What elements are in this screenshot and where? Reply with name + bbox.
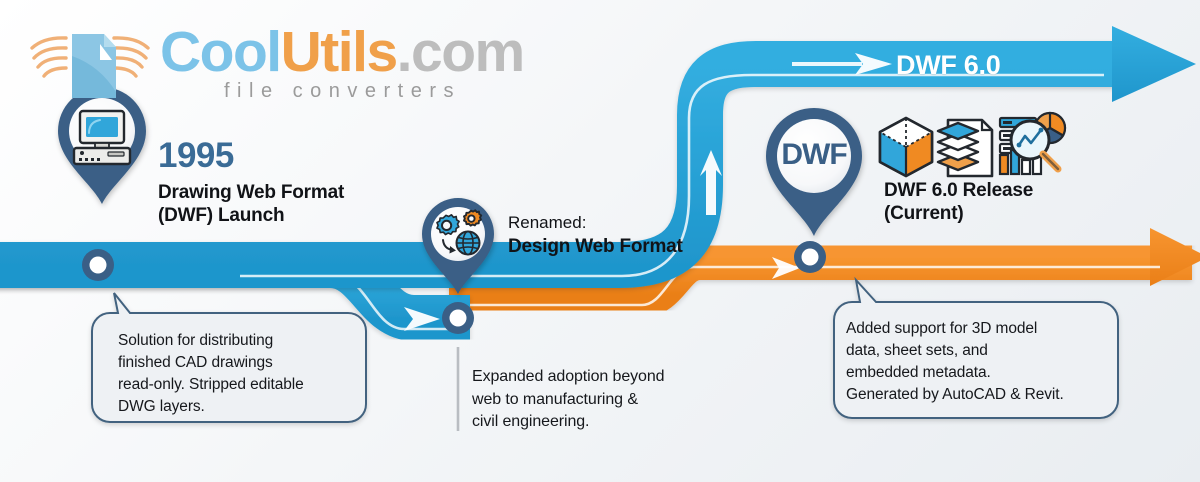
infographic-canvas: CoolUtils.com file converters DWF 6.0 19… (0, 0, 1200, 482)
milestone-1-title-line2: (DWF) Launch (158, 205, 284, 227)
milestone-1-callout: Solution for distributing finished CAD d… (118, 330, 358, 418)
milestone-3-pin-label: DWF (768, 140, 860, 170)
brand-tagline: file converters (224, 80, 461, 103)
milestone-1-title-line1: Drawing Web Format (158, 182, 344, 204)
brand-dot: . (397, 20, 411, 84)
brand-com: com (411, 20, 524, 84)
desktop-computer-icon (74, 111, 130, 164)
brand-wordmark: CoolUtils.com (160, 24, 560, 81)
milestone-2-callout: Expanded adoption beyond web to manufact… (472, 366, 712, 434)
milestone-2-label: Renamed: (508, 213, 586, 233)
brand-cool: Cool (160, 20, 281, 84)
3d-cube-icon (880, 118, 932, 176)
callout-1-line-2: finished CAD drawings (118, 352, 358, 374)
callout-3-line-2: data, sheet sets, and (846, 340, 1108, 362)
callout-3-line-1: Added support for 3D model (846, 318, 1108, 340)
milestone-3-title-line2: (Current) (884, 203, 963, 225)
timeline-node-2[interactable] (442, 302, 474, 334)
document-wings-icon (28, 22, 158, 104)
banner-label: DWF 6.0 (896, 52, 1000, 79)
callout-3-line-3: embedded metadata. (846, 362, 1108, 384)
milestone-3-title-line1: DWF 6.0 Release (884, 180, 1033, 202)
callout-1-line-4: DWG layers. (118, 396, 358, 418)
milestone-3-callout: Added support for 3D model data, sheet s… (846, 318, 1108, 406)
milestone-1-year: 1995 (158, 138, 234, 173)
callout-2-line-1: Expanded adoption beyond (472, 366, 712, 389)
callout-3-line-4: Generated by AutoCAD & Revit. (846, 384, 1108, 406)
callout-1-line-1: Solution for distributing (118, 330, 358, 352)
sheet-sets-icon (938, 120, 992, 176)
callout-2-line-2: web to manufacturing & (472, 389, 712, 412)
brand-utils: Utils (281, 20, 397, 84)
brand-logo[interactable]: CoolUtils.com file converters (28, 18, 528, 110)
data-analytics-icon (1000, 113, 1065, 174)
timeline-node-1[interactable] (82, 249, 114, 281)
milestone-2-title: Design Web Format (508, 236, 683, 258)
milestone-pin-3[interactable] (766, 108, 862, 236)
callout-2-line-3: civil engineering. (472, 411, 712, 434)
callout-1-line-3: read-only. Stripped editable (118, 374, 358, 396)
timeline-node-3[interactable] (794, 241, 826, 273)
